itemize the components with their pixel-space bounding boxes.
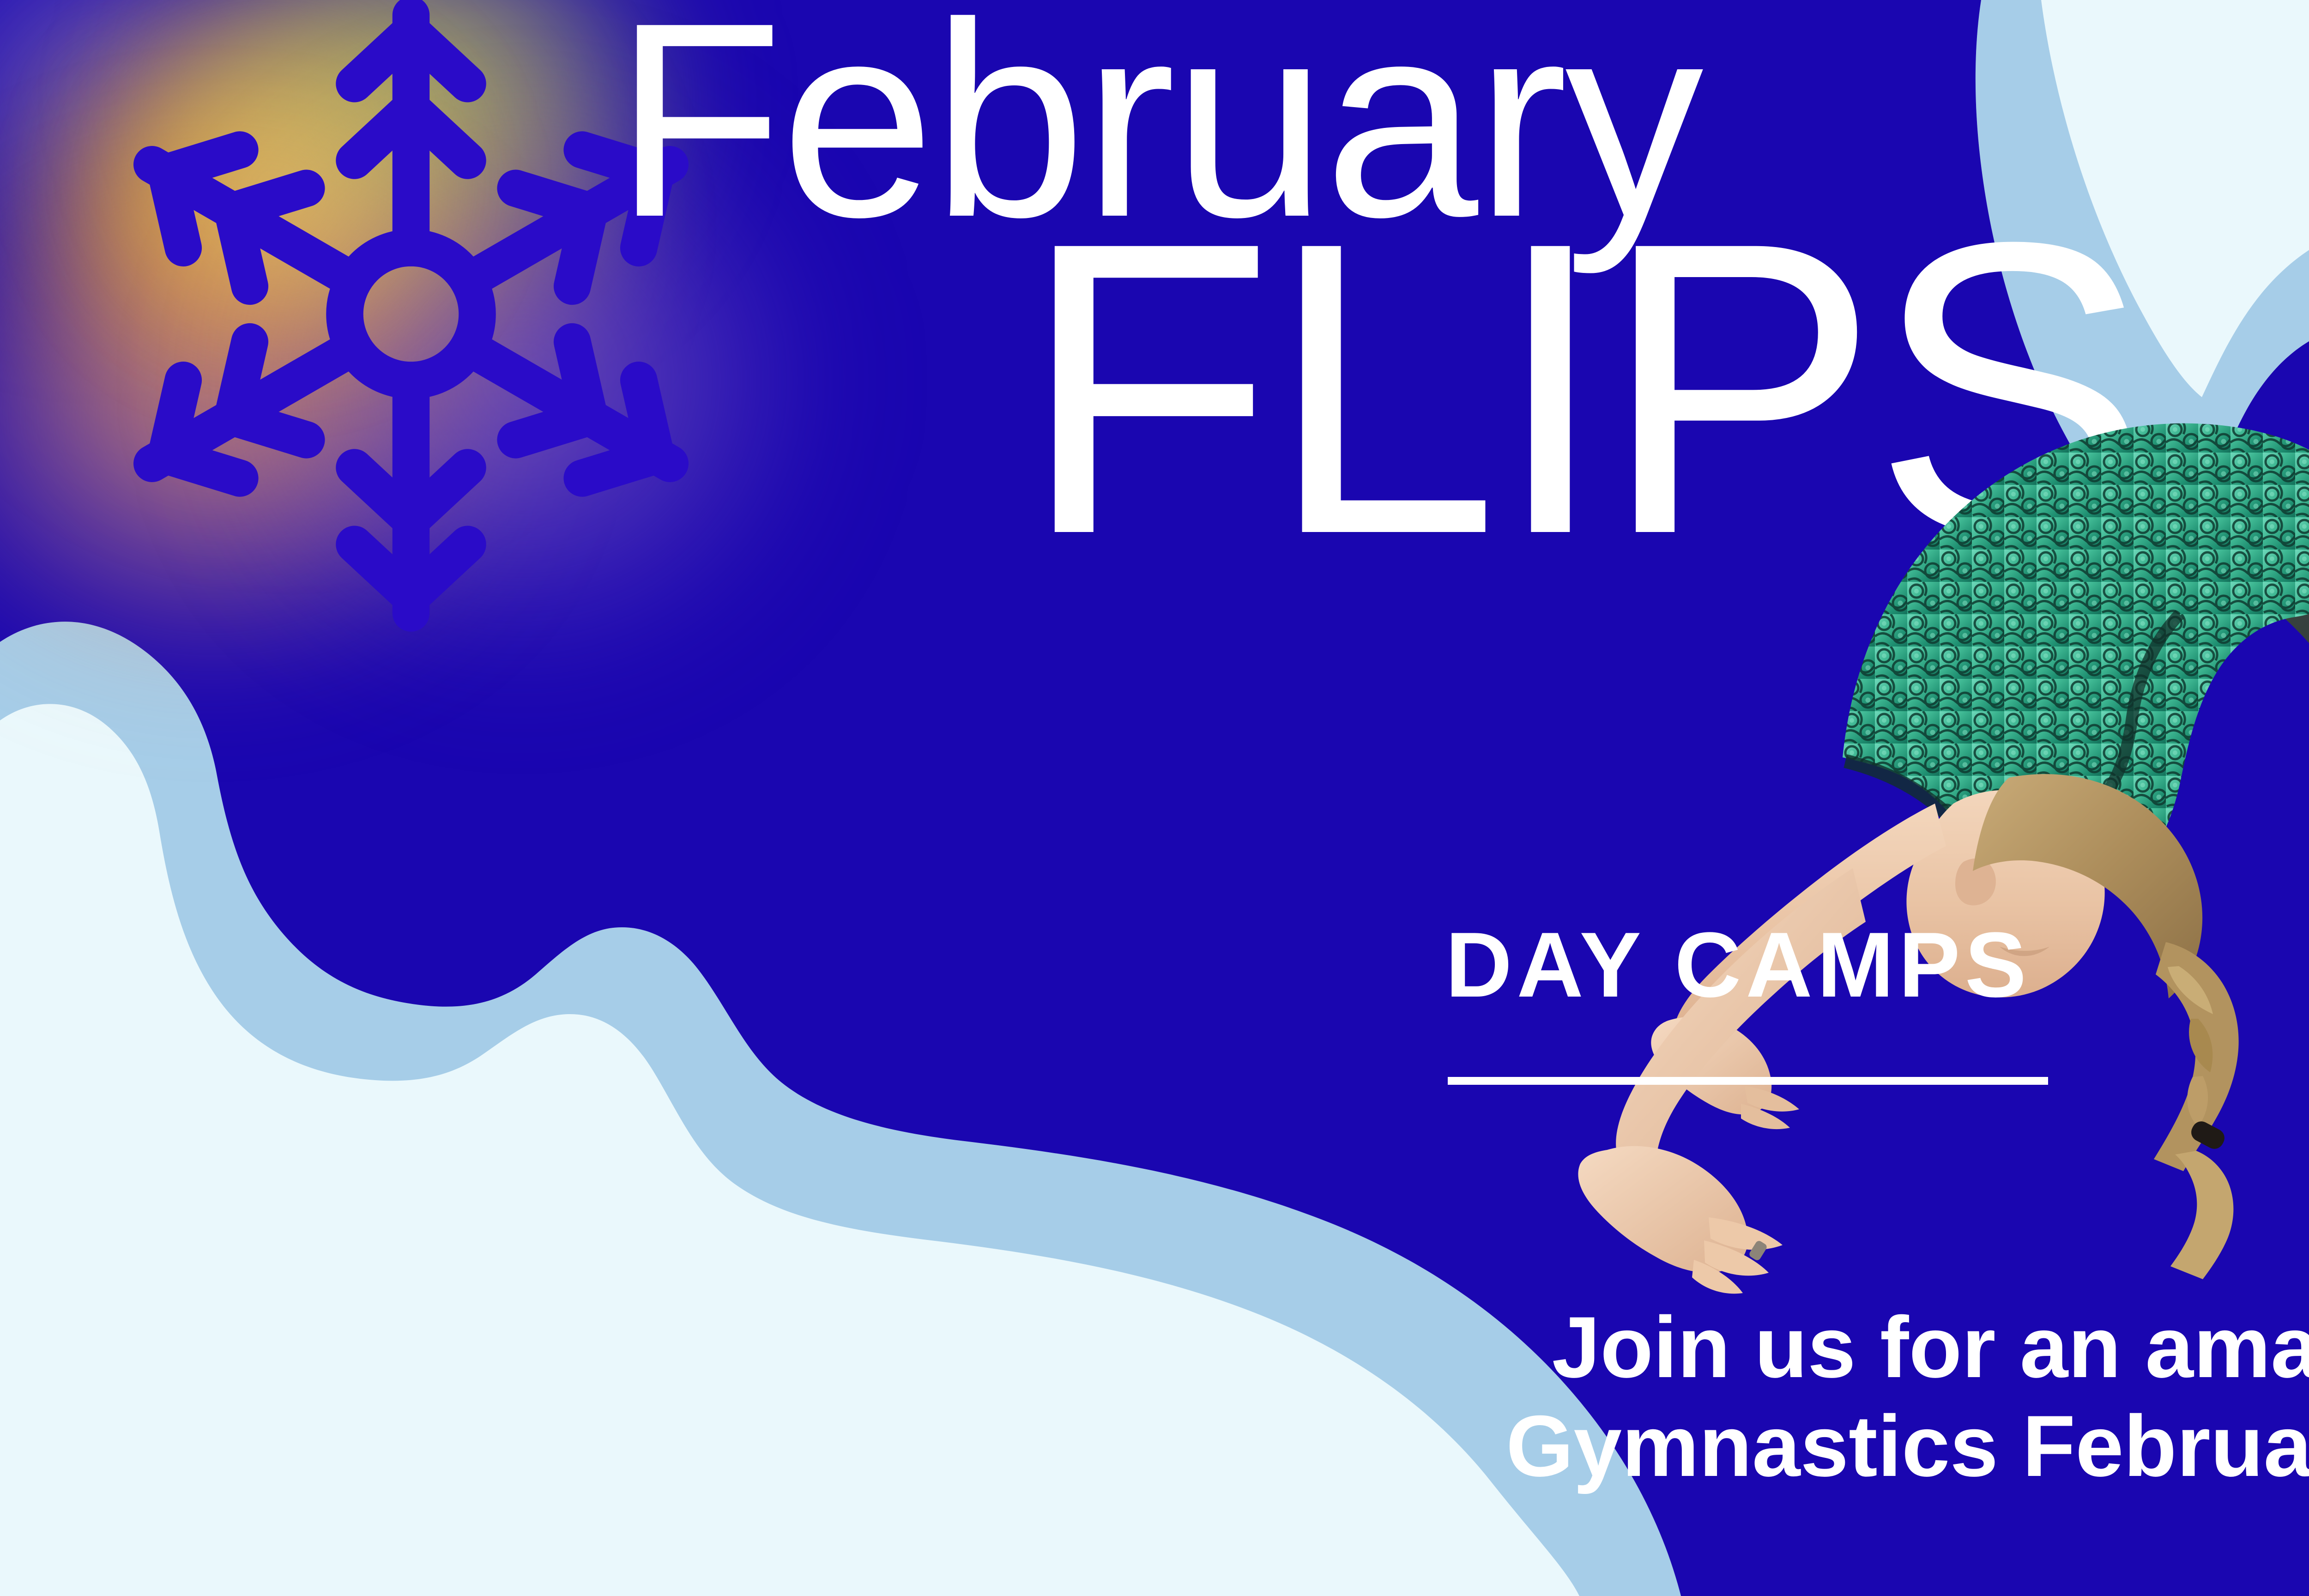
poster-canvas: February FLIPS xyxy=(0,0,2309,1596)
headline-line-2: FLIPS xyxy=(1021,180,2143,596)
text-layer: February FLIPS xyxy=(0,0,2309,1596)
